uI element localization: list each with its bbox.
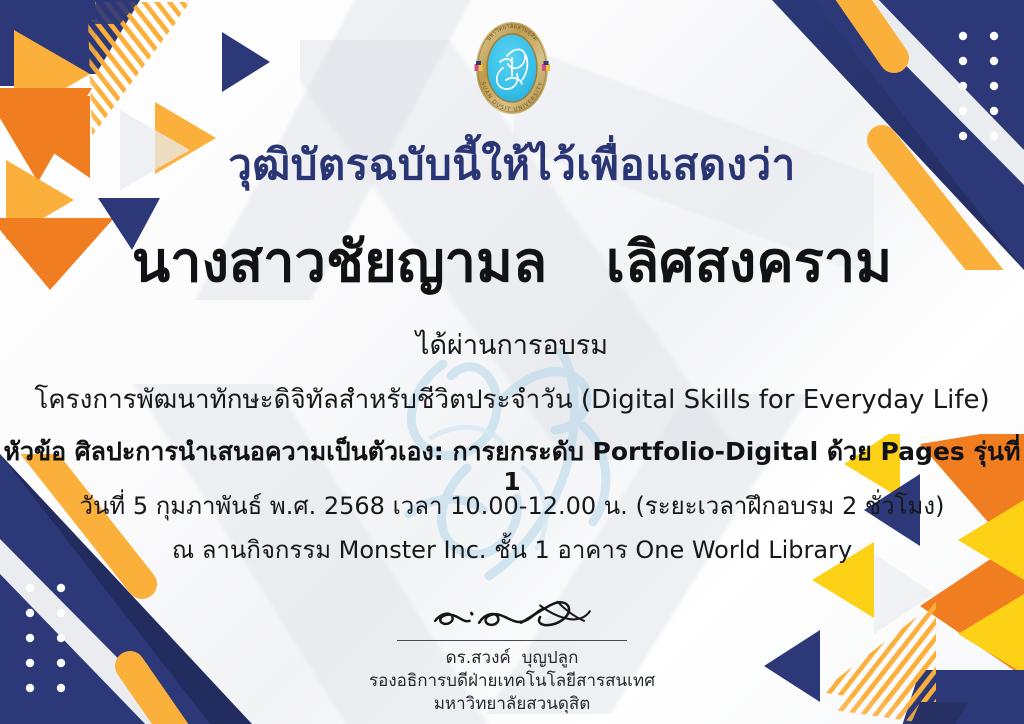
certificate: มหาวิทยาลัยสวนดุสิต SUAN DUSIT UNIVERSIT… [0, 0, 1024, 724]
passed-label: ได้ผ่านการอบรม [0, 330, 1024, 362]
datetime-line: วันที่ 5 กุมภาพันธ์ พ.ศ. 2568 เวลา 10.00… [0, 492, 1024, 521]
university-seal-icon: มหาวิทยาลัยสวนดุสิต SUAN DUSIT UNIVERSIT… [460, 14, 564, 122]
signature-block: ดร.สวงค์ บุญปลูก รองอธิการบดีฝ่ายเทคโนโล… [332, 596, 692, 716]
recipient-name: นางสาวชัยญามล เลิศสงคราม [0, 232, 1024, 294]
certificate-title: วุฒิบัตรฉบับนี้ให้ไว้เพื่อแสดงว่า [0, 142, 1024, 188]
topic-line: หัวข้อ ศิลปะการนำเสนอความเป็นตัวเอง: การ… [0, 437, 1024, 497]
signature-rule [397, 640, 627, 641]
signer-organization: มหาวิทยาลัยสวนดุสิต [332, 693, 692, 716]
university-logo: มหาวิทยาลัยสวนดุสิต SUAN DUSIT UNIVERSIT… [460, 14, 564, 122]
program-name: โครงการพัฒนาทักษะดิจิทัลสำหรับชีวิตประจำ… [0, 385, 1024, 416]
handwritten-signature [397, 596, 626, 638]
signer-role: รองอธิการบดีฝ่ายเทคโนโลยีสารสนเทศ [332, 670, 692, 693]
venue-line: ณ ลานกิจกรรม Monster Inc. ชั้น 1 อาคาร O… [0, 536, 1024, 565]
signer-name: ดร.สวงค์ บุญปลูก [332, 647, 692, 670]
